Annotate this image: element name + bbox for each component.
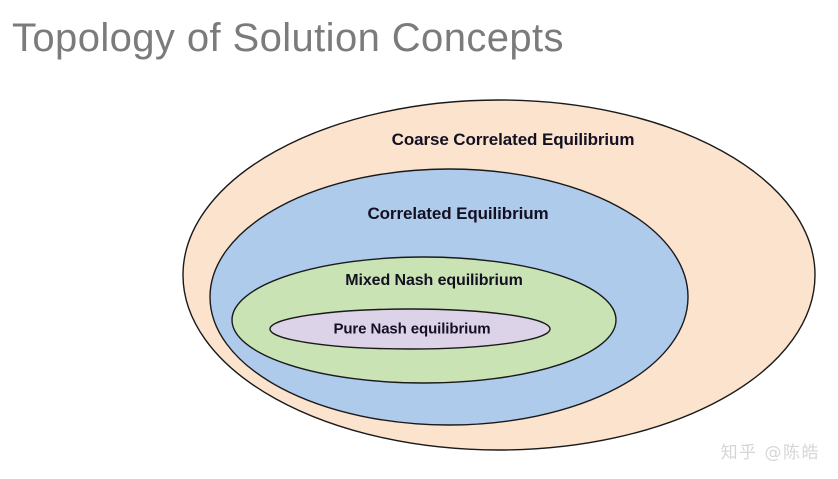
ellipse-shapes bbox=[0, 0, 838, 479]
label-pure-nash-equilibrium: Pure Nash equilibrium bbox=[333, 321, 490, 338]
label-coarse-correlated-equilibrium: Coarse Correlated Equilibrium bbox=[392, 130, 635, 150]
label-correlated-equilibrium: Correlated Equilibrium bbox=[367, 204, 548, 224]
nested-ellipse-diagram: Coarse Correlated Equilibrium Correlated… bbox=[0, 0, 838, 479]
watermark: 知乎 @陈皓 bbox=[721, 438, 820, 463]
label-mixed-nash-equilibrium: Mixed Nash equilibrium bbox=[345, 272, 522, 290]
diagram-canvas: Topology of Solution Concepts Coarse Cor… bbox=[0, 0, 838, 479]
